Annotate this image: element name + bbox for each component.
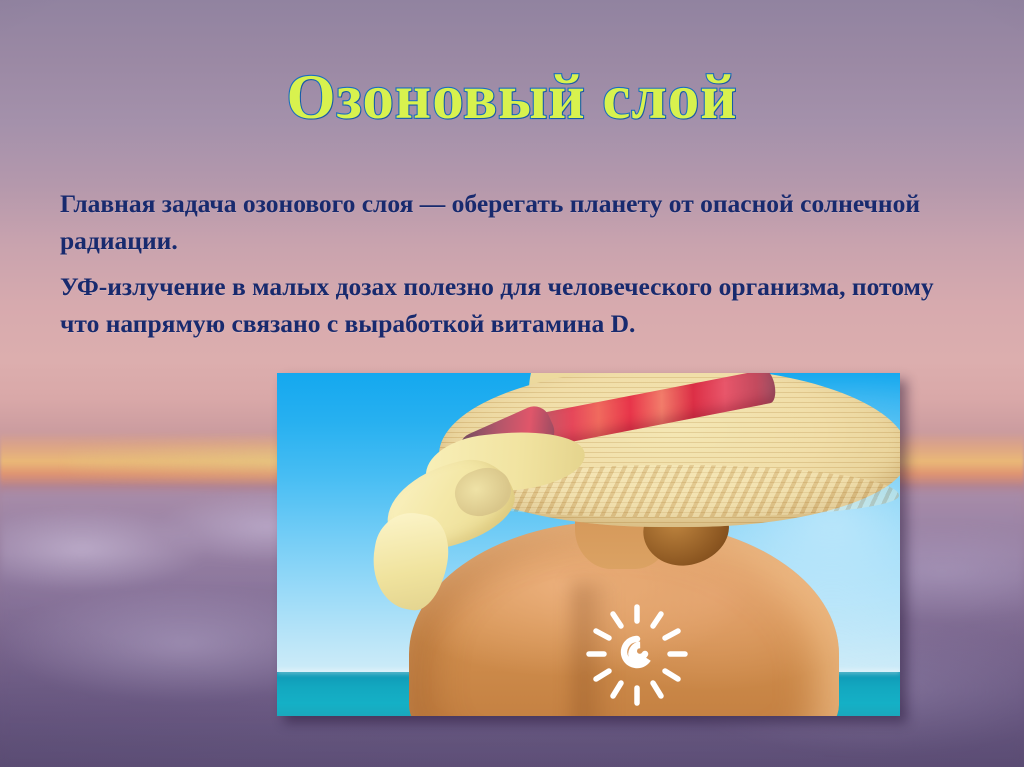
slide-title: Озоновый слой	[0, 64, 1024, 130]
body-paragraph-1: Главная задача озонового слоя — оберегат…	[60, 186, 960, 259]
sunscreen-sun-icon	[577, 595, 697, 715]
body-paragraph-2: УФ-излучение в малых дозах полезно для ч…	[60, 269, 960, 342]
photo-content	[277, 373, 900, 716]
presentation-slide: Озоновый слой Главная задача озонового с…	[0, 0, 1024, 767]
inset-photo	[277, 373, 900, 716]
slide-body-text: Главная задача озонового слоя — оберегат…	[60, 186, 960, 347]
